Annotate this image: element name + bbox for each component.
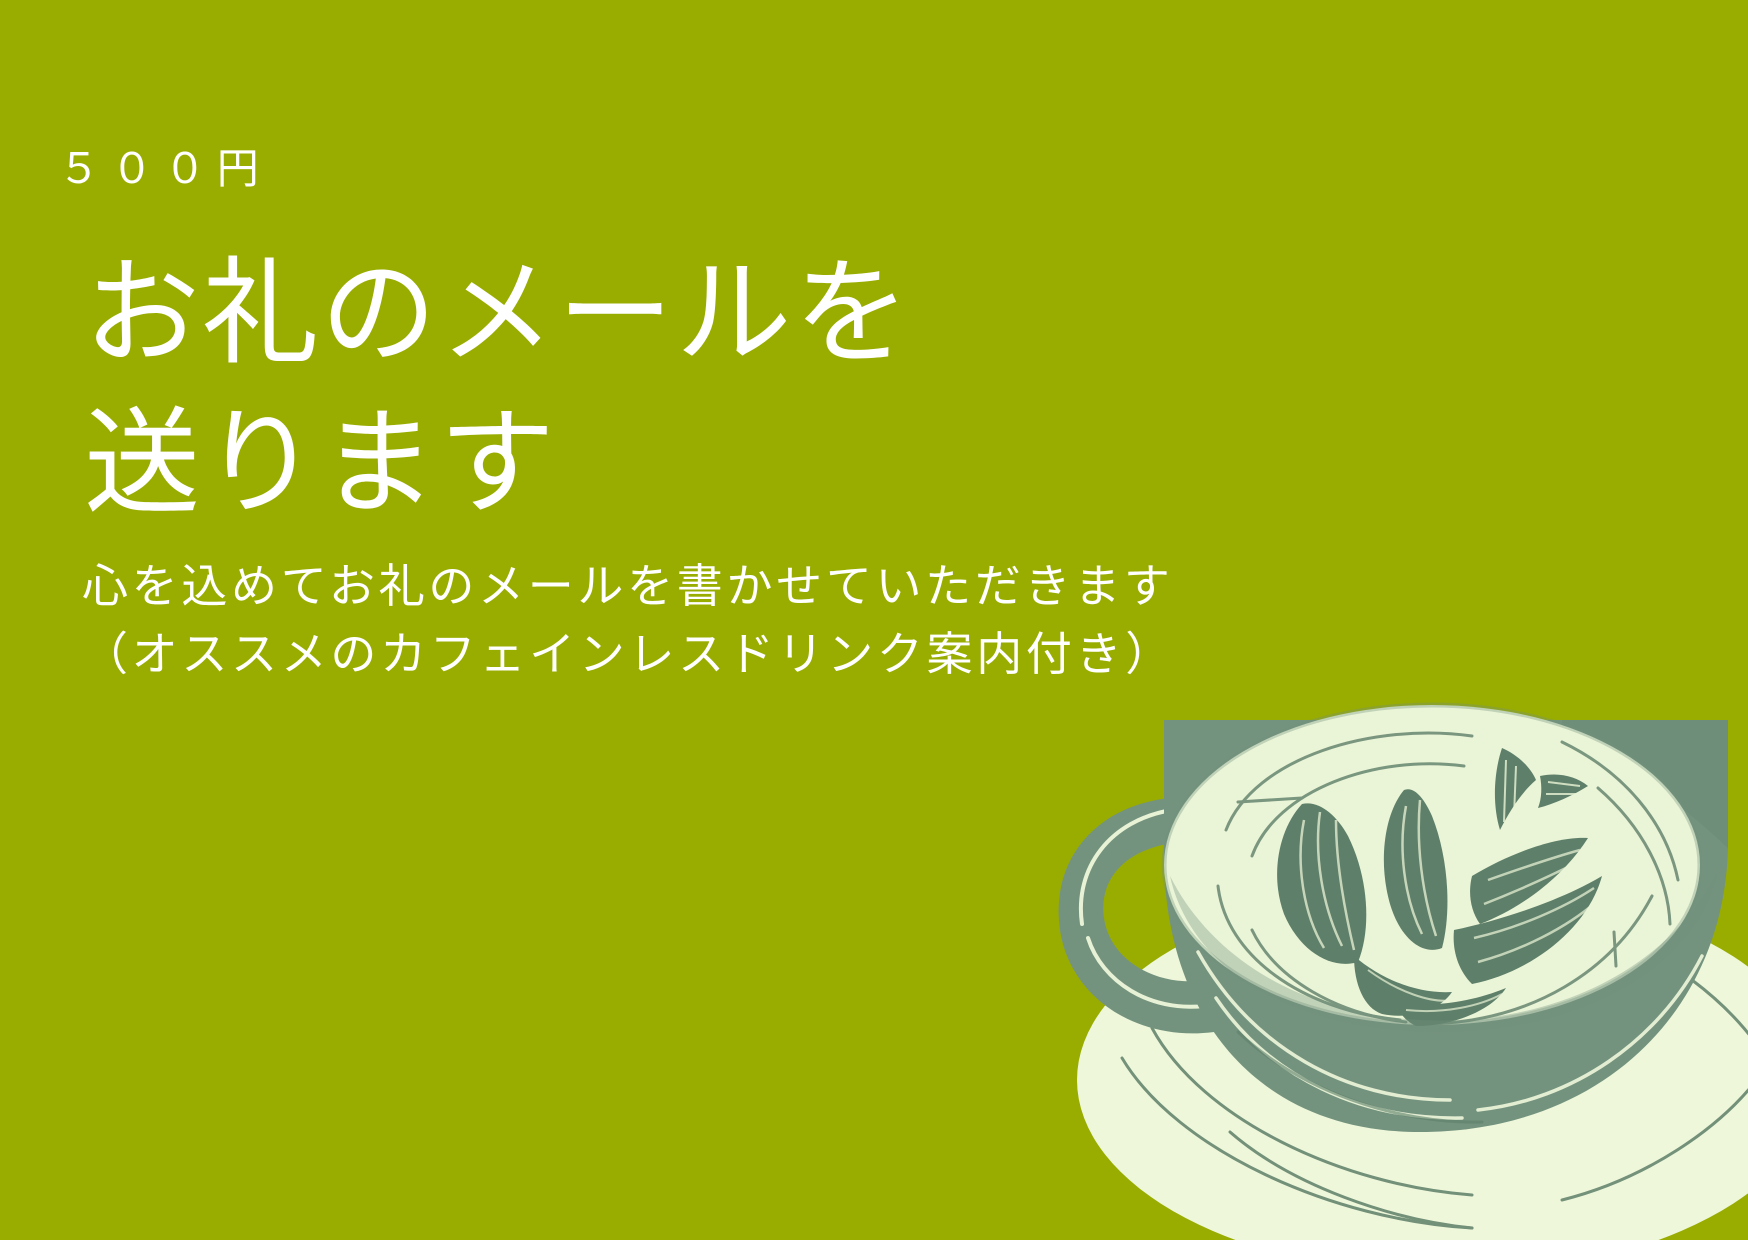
- latte-coffee-cup-icon: [1002, 680, 1748, 1240]
- headline-group: お礼のメールを 送ります: [84, 238, 1234, 538]
- latte-art-shape: [1277, 748, 1602, 1026]
- coffee-cup-svg: [1002, 680, 1748, 1240]
- foam-surface-shape: [1164, 705, 1700, 1026]
- saucer-shape: [1077, 885, 1748, 1240]
- subtitle-line-1: 心を込めてお礼のメールを書かせていただきます: [82, 552, 1482, 620]
- subtitle-line-2: （オススメのカフェインレスドリンク案内付き）: [82, 620, 1482, 688]
- cup-body-shape: [1164, 720, 1728, 1132]
- headline-line-1: お礼のメールを: [84, 238, 1234, 388]
- poster-canvas: ５００円 お礼のメールを 送ります 心を込めてお礼のメールを書かせていただきます…: [0, 0, 1748, 1240]
- headline-line-2: 送ります: [84, 388, 1234, 538]
- cup-handle-shape: [1059, 798, 1214, 1033]
- price-label: ５００円: [58, 148, 270, 190]
- foam-shadow: [1170, 870, 1718, 1032]
- subtitle-group: 心を込めてお礼のメールを書かせていただきます （オススメのカフェインレスドリンク…: [82, 552, 1482, 688]
